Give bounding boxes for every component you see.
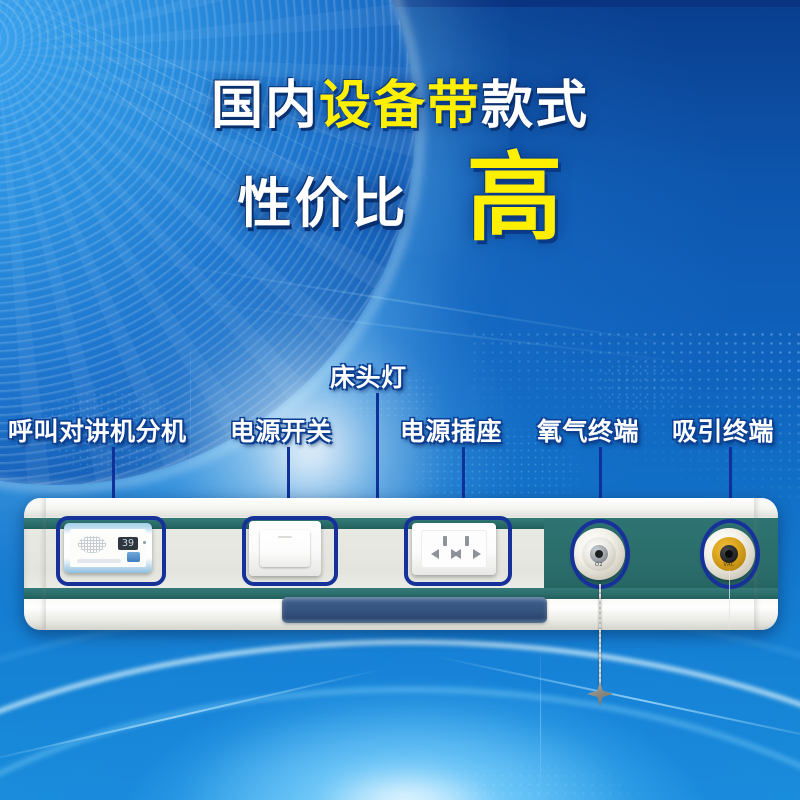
headline-seg-2: 设备带 — [319, 80, 481, 132]
panel-end-cap-left — [24, 498, 46, 630]
headline-line2: 性价比 — [238, 159, 409, 238]
callout-label-power-switch: 电源开关 — [230, 412, 332, 448]
highlight-circle-oxygen — [570, 519, 630, 589]
callout-label-suction: 吸引终端 — [672, 412, 774, 448]
highlight-box-power-socket — [404, 516, 512, 586]
headline-seg-1: 国内 — [211, 80, 319, 132]
highlight-box-call-intercom — [56, 516, 166, 586]
horizon-arc-3 — [0, 600, 800, 800]
headline-block: 国内设备带款式 性价比 高 — [0, 80, 800, 242]
grid-line-1 — [540, 640, 541, 800]
callout-label-bed-lamp: 床头灯 — [330, 358, 407, 394]
suction-hose-line — [729, 570, 730, 630]
callout-label-oxygen: 氧气终端 — [537, 412, 639, 448]
panel-top-cap — [24, 498, 778, 517]
banner-stage: 国内设备带款式 性价比 高 呼叫对讲机分机 电源开关 床头灯 电源插座 氧气终端… — [0, 0, 800, 800]
headline-line2-row: 性价比 高 — [0, 154, 800, 242]
headline-highlight: 高 — [467, 154, 563, 242]
headline-line1: 国内设备带款式 — [0, 80, 800, 132]
grid-line-2 — [190, 330, 191, 480]
highlight-circle-suction — [700, 519, 760, 589]
pull-cord[interactable] — [599, 584, 601, 688]
highlight-box-power-switch — [242, 516, 338, 586]
callout-label-power-socket: 电源插座 — [400, 412, 502, 448]
bed-lamp-diffuser[interactable] — [282, 597, 547, 623]
callout-label-call-intercom: 呼叫对讲机分机 — [8, 412, 187, 448]
headline-seg-3: 款式 — [481, 80, 589, 132]
